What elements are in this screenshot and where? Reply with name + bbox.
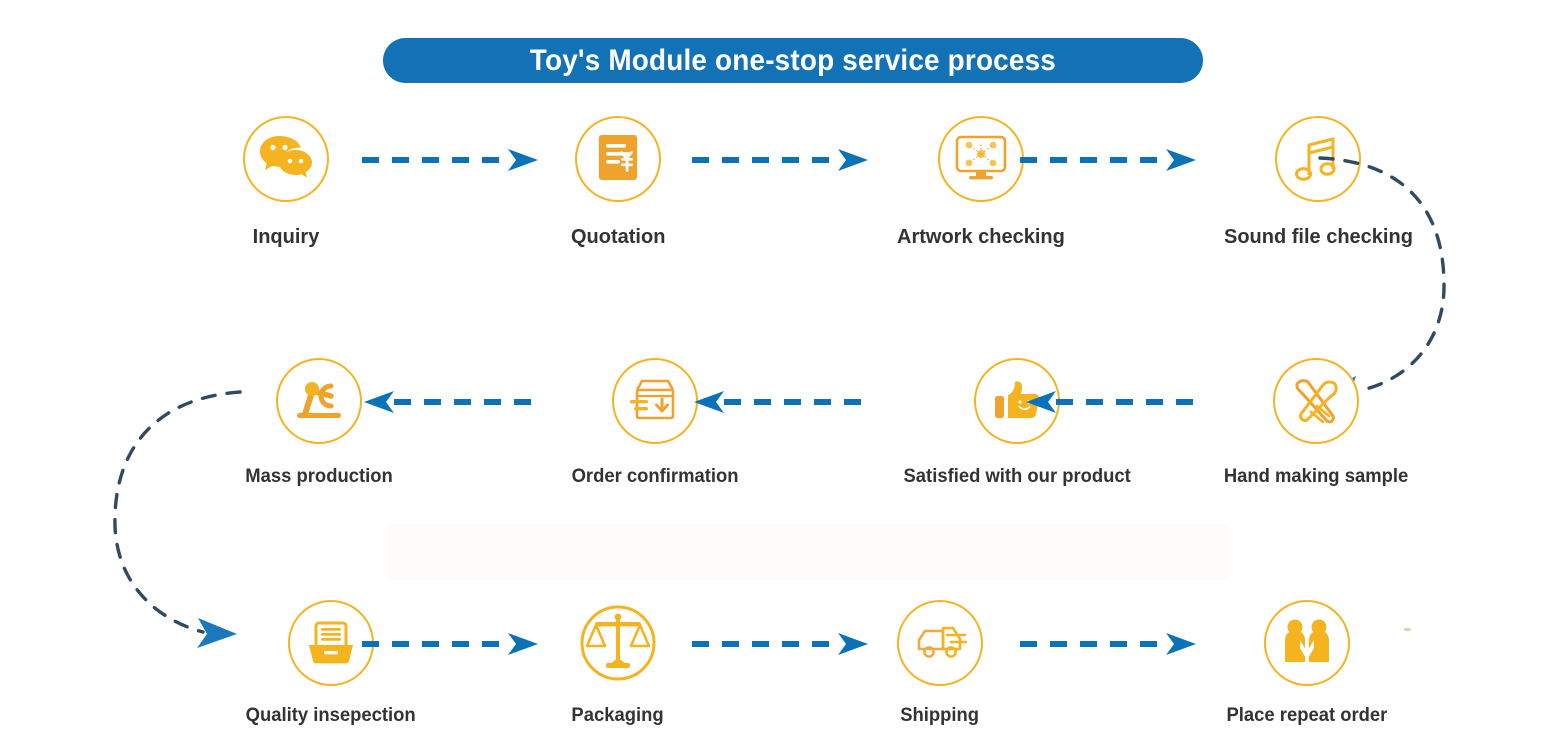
arrow-inquiry-to-quotation: [362, 147, 542, 173]
artifact-mark: [1404, 628, 1411, 631]
step-label: Hand making sample: [1224, 466, 1408, 488]
step-order-confirmation[interactable]: Order confirmation: [569, 358, 741, 488]
step-quotation[interactable]: Quotation: [571, 116, 665, 249]
step-label: Artwork checking: [897, 226, 1065, 249]
arrow-artwork-to-sound: [1020, 147, 1200, 173]
step-label: Place repeat order: [1226, 705, 1387, 727]
step-hand-making-sample[interactable]: Hand making sample: [1221, 358, 1411, 488]
delivery-truck-icon: [897, 600, 983, 686]
step-place-repeat-order[interactable]: Place repeat order: [1224, 600, 1390, 727]
page-title: Toy's Module one-stop service process: [530, 44, 1056, 78]
arrow-quotation-to-artwork: [692, 147, 872, 173]
monitor-artwork-icon: [938, 116, 1024, 202]
chat-bubbles-icon: [243, 116, 329, 202]
balance-scales-icon: [575, 600, 661, 686]
page-title-banner: Toy's Module one-stop service process: [383, 38, 1203, 83]
arrow-order-confirmation-to-mass-production: [360, 389, 540, 415]
handshake-people-icon: [1264, 600, 1350, 686]
step-label: Quality insepection: [246, 705, 416, 727]
arrow-satisfied-to-order-confirmation: [690, 389, 870, 415]
step-shipping[interactable]: Shipping: [897, 600, 983, 727]
step-label: Quotation: [571, 226, 665, 249]
background-band: [388, 524, 1226, 580]
arrow-packaging-to-shipping: [692, 631, 872, 657]
step-packaging[interactable]: Packaging: [570, 600, 665, 727]
step-label: Inquiry: [253, 226, 320, 249]
robot-arm-icon: [276, 358, 362, 444]
step-label: Packaging: [571, 705, 663, 727]
process-diagram: Toy's Module one-stop service process In…: [0, 0, 1550, 754]
step-label: Shipping: [901, 705, 980, 727]
arrow-quality-to-packaging: [362, 631, 542, 657]
step-label: Order confirmation: [572, 466, 739, 488]
document-tray-icon: [288, 600, 374, 686]
step-artwork-checking[interactable]: Artwork checking: [897, 116, 1065, 249]
step-inquiry[interactable]: Inquiry: [243, 116, 329, 249]
tools-wrench-hammer-icon: [1273, 358, 1359, 444]
package-download-icon: [612, 358, 698, 444]
step-label: Satisfied with our product: [904, 466, 1131, 488]
step-satisfied-with-product[interactable]: Satisfied with our product: [900, 358, 1134, 488]
arrow-hand-sample-to-satisfied: [1022, 389, 1202, 415]
arrow-shipping-to-repeat-order: [1020, 631, 1200, 657]
invoice-yen-icon: [575, 116, 661, 202]
step-quality-inspection[interactable]: Quality insepection: [243, 600, 418, 727]
